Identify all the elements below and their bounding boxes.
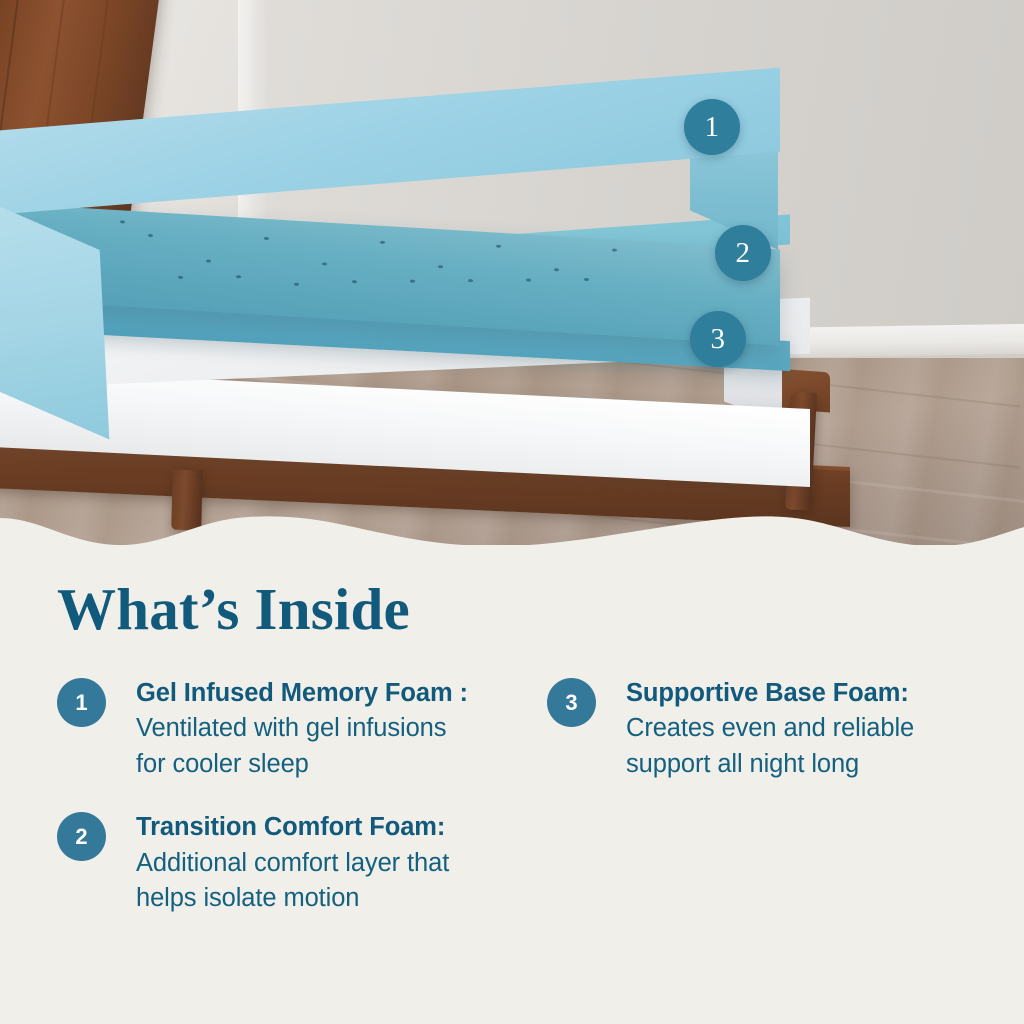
product-photo: 1 2 3 (0, 0, 1024, 560)
infographic-root: 1 2 3 What’s Inside 1 Gel Infused Memory… (0, 0, 1024, 1024)
legend-badge-1: 1 (57, 678, 106, 727)
legend-label-3: Supportive Base Foam: (626, 679, 909, 707)
page-title: What’s Inside (57, 575, 410, 644)
legend-badge-2: 2 (57, 812, 106, 861)
legend-label-1: Gel Infused Memory Foam : (136, 679, 468, 707)
photo-badge-3[interactable]: 3 (690, 311, 746, 367)
legend-description-1: Ventilated with gel infusions for cooler… (136, 714, 446, 777)
legend-text-2: Transition Comfort Foam: Additional comf… (136, 810, 477, 916)
legend-column-left: 1 Gel Infused Memory Foam : Ventilated w… (57, 676, 477, 945)
legend-badge-3: 3 (547, 678, 596, 727)
legend-description-3: Creates even and reliable support all ni… (626, 714, 914, 777)
list-item[interactable]: 2 Transition Comfort Foam: Additional co… (57, 810, 477, 916)
photo-badge-1[interactable]: 1 (684, 99, 740, 155)
legend-label-2: Transition Comfort Foam: (136, 813, 445, 841)
whats-inside-panel: What’s Inside 1 Gel Infused Memory Foam … (0, 545, 1024, 1024)
legend-column-right: 3 Supportive Base Foam: Creates even and… (547, 676, 967, 810)
legend-description-2: Additional comfort layer that helps isol… (136, 849, 449, 912)
photo-badge-2[interactable]: 2 (715, 225, 771, 281)
list-item[interactable]: 3 Supportive Base Foam: Creates even and… (547, 676, 967, 782)
legend-text-1: Gel Infused Memory Foam : Ventilated wit… (136, 676, 477, 782)
list-item[interactable]: 1 Gel Infused Memory Foam : Ventilated w… (57, 676, 477, 782)
legend-text-3: Supportive Base Foam: Creates even and r… (626, 676, 967, 782)
